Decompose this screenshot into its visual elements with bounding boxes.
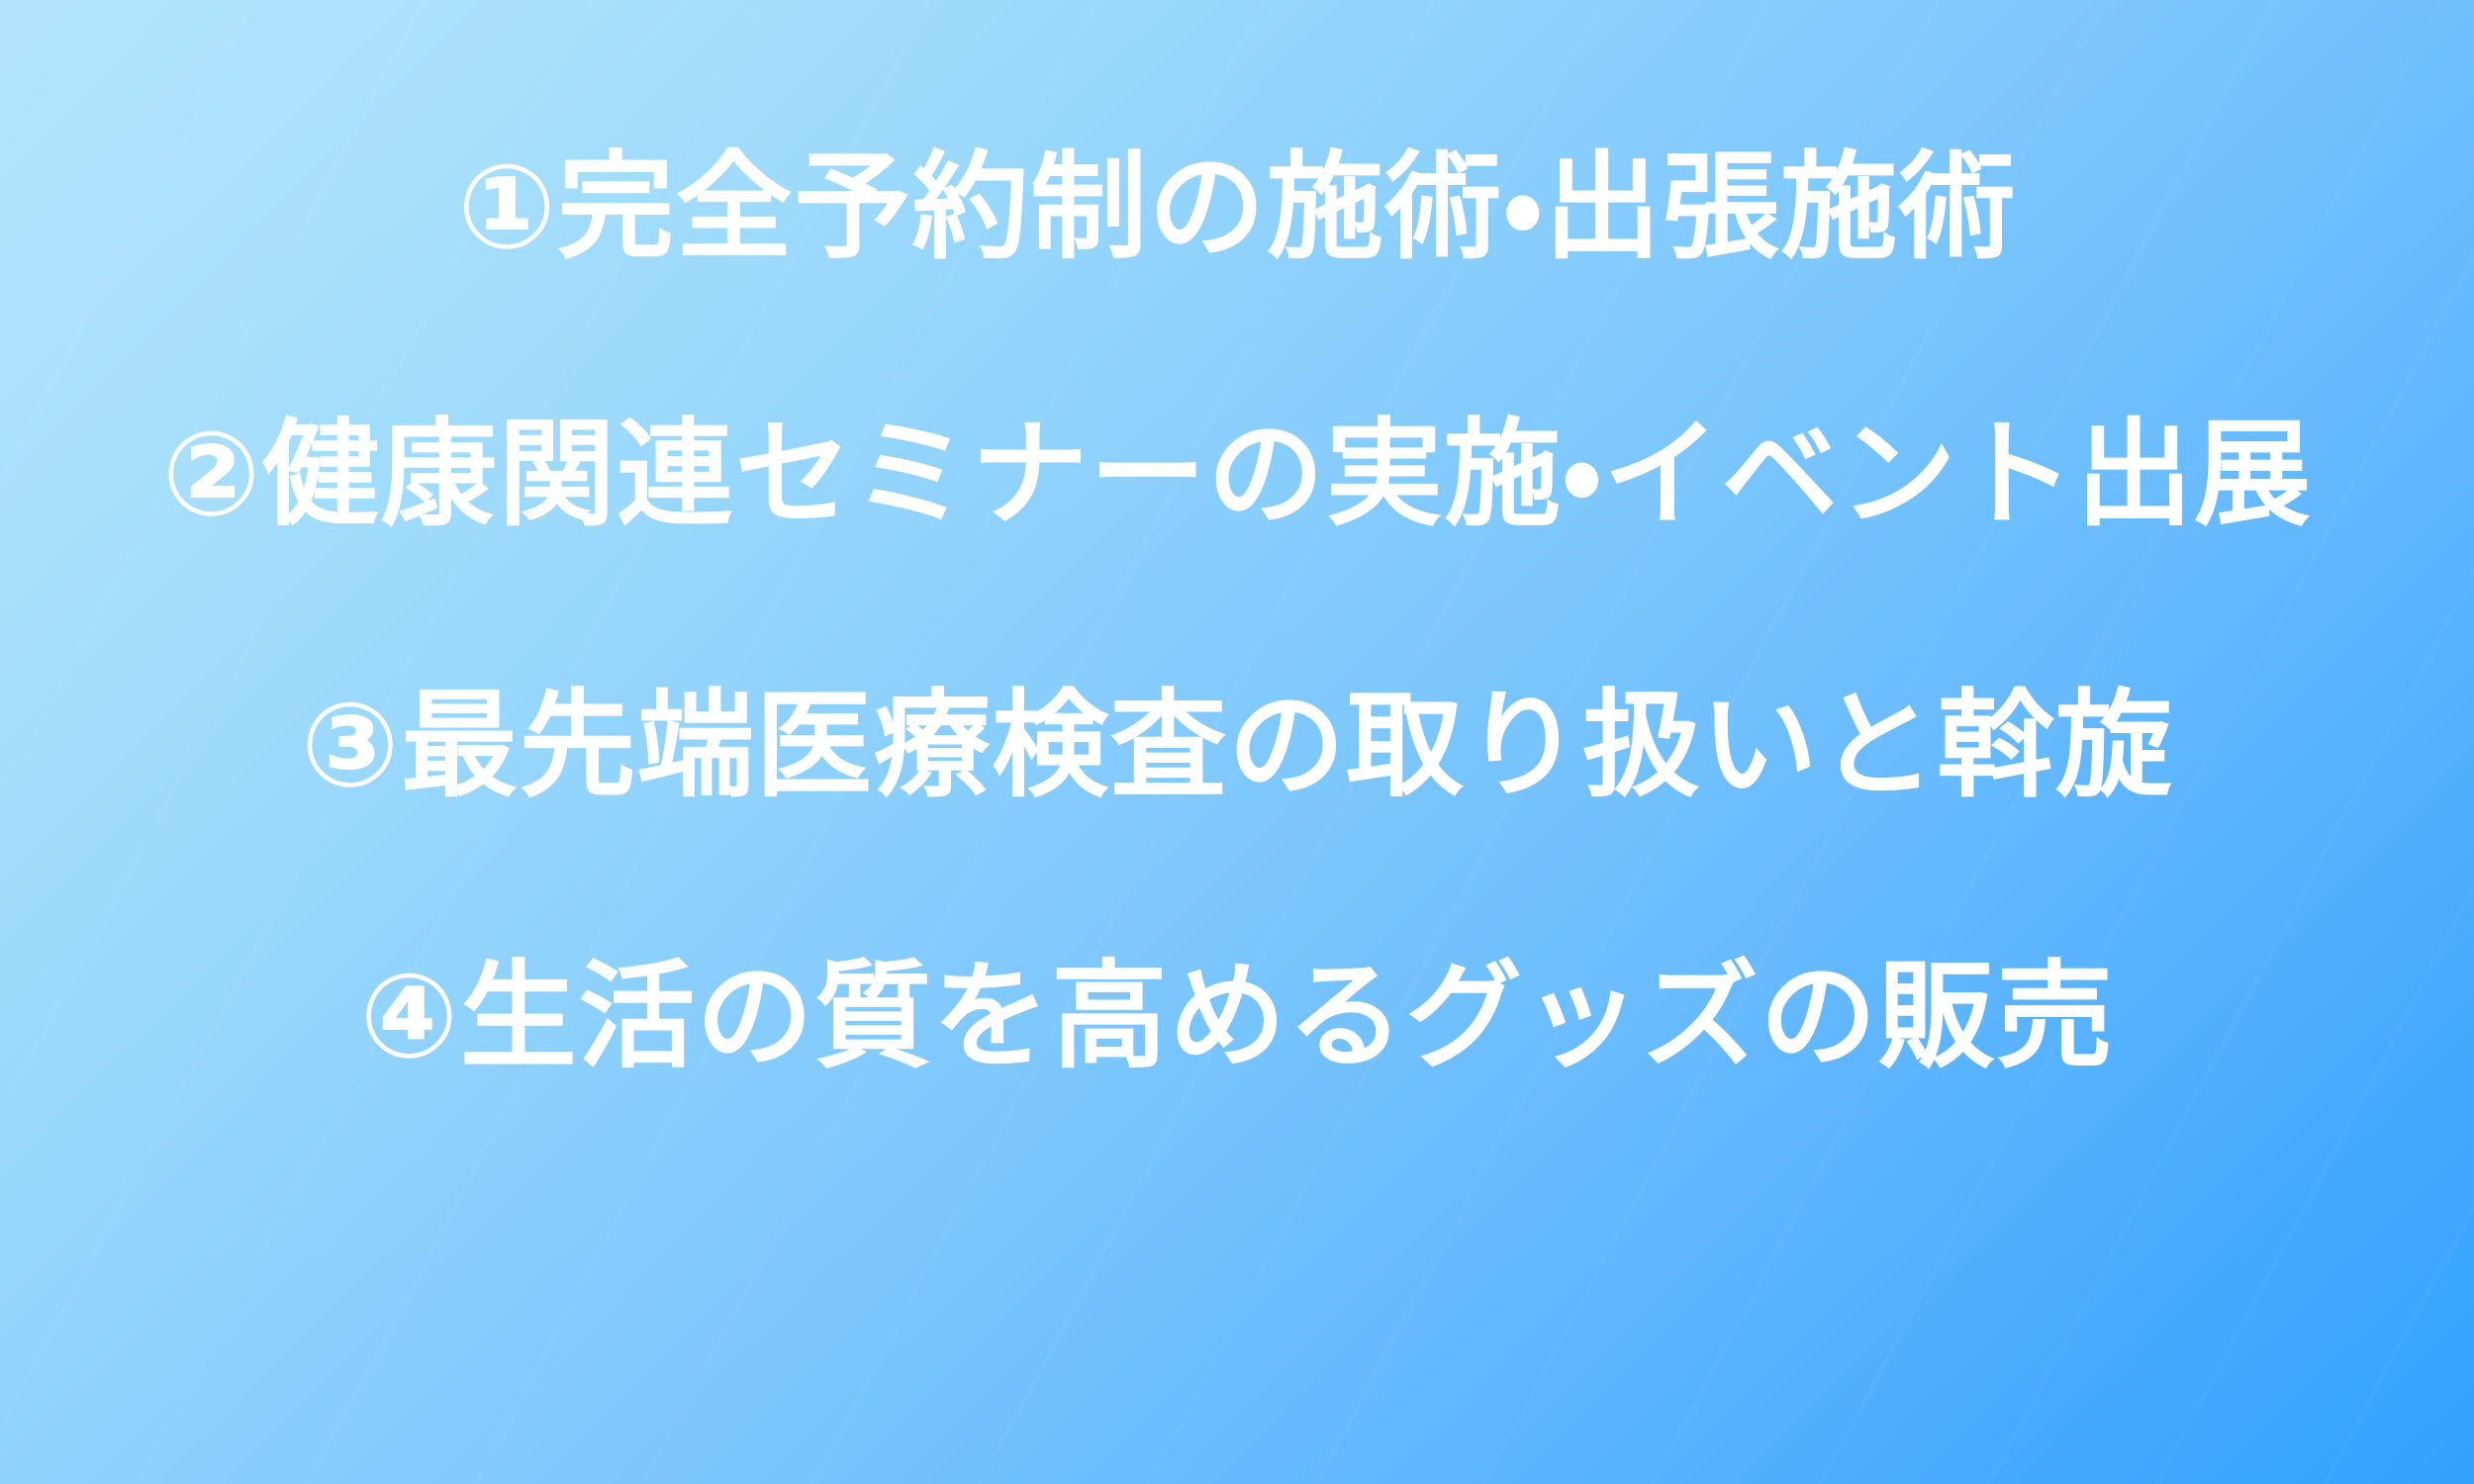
list-item-1: ①完全予約制の施術・出張施術 <box>0 148 2474 265</box>
list-item-3: ③最先端医療検査の取り扱いと斡旋 <box>0 687 2474 803</box>
slide-canvas: ①完全予約制の施術・出張施術 ②健康関連セミナーの実施・イベント出展 ③最先端医… <box>0 0 2474 1484</box>
list-item-4: ④生活の質を高めるグッズの販売 <box>0 958 2474 1074</box>
service-list: ①完全予約制の施術・出張施術 ②健康関連セミナーの実施・イベント出展 ③最先端医… <box>0 0 2474 1484</box>
list-item-2: ②健康関連セミナーの実施・イベント出展 <box>0 416 2474 532</box>
